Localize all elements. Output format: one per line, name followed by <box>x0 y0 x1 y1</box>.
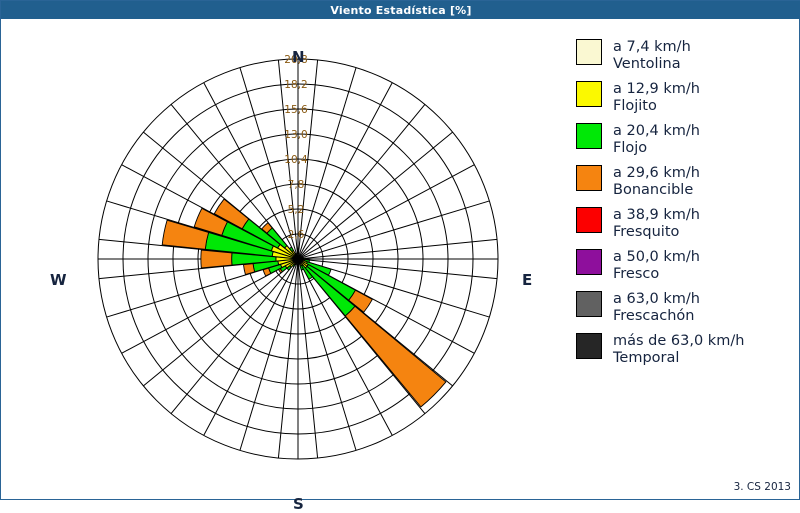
radial-tick-label: 13,0 <box>284 129 307 141</box>
legend-item-text: a 20,4 km/hFlojo <box>613 123 700 157</box>
legend-item-speed: a 7,4 km/h <box>613 39 691 56</box>
legend-item-speed: más de 63,0 km/h <box>613 333 744 350</box>
legend-color-swatch <box>576 291 602 317</box>
legend-item-name: Flojo <box>613 140 700 157</box>
legend-item[interactable]: a 50,0 km/hFresco <box>576 249 791 283</box>
legend-item-name: Ventolina <box>613 56 691 73</box>
legend-color-swatch <box>576 207 602 233</box>
compass-label-north: N <box>292 48 305 66</box>
legend-item-speed: a 50,0 km/h <box>613 249 700 266</box>
legend-item-name: Fresquito <box>613 224 700 241</box>
legend-item-speed: a 38,9 km/h <box>613 207 700 224</box>
legend-item-name: Flojito <box>613 98 700 115</box>
radial-tick-label: 5,2 <box>288 204 305 216</box>
legend-color-swatch <box>576 249 602 275</box>
legend-item-speed: a 12,9 km/h <box>613 81 700 98</box>
radial-axis-labels: 2,65,27,810,413,015,618,220,8 <box>284 54 308 241</box>
legend-item-speed: a 63,0 km/h <box>613 291 700 308</box>
legend-color-swatch <box>576 333 602 359</box>
legend-item[interactable]: a 20,4 km/hFlojo <box>576 123 791 157</box>
window-title: Viento Estadística [%] <box>330 4 471 17</box>
legend-color-swatch <box>576 123 602 149</box>
legend-item-text: a 50,0 km/hFresco <box>613 249 700 283</box>
legend-item-speed: a 20,4 km/h <box>613 123 700 140</box>
legend-item-text: más de 63,0 km/hTemporal <box>613 333 744 367</box>
legend-item-text: a 12,9 km/hFlojito <box>613 81 700 115</box>
legend-color-swatch <box>576 39 602 65</box>
legend-item[interactable]: a 29,6 km/hBonancible <box>576 165 791 199</box>
legend-item[interactable]: a 63,0 km/hFrescachón <box>576 291 791 325</box>
legend-item[interactable]: a 7,4 km/hVentolina <box>576 39 791 73</box>
legend-item-name: Temporal <box>613 350 744 367</box>
legend-item-speed: a 29,6 km/h <box>613 165 700 182</box>
legend-item-text: a 38,9 km/hFresquito <box>613 207 700 241</box>
legend-item-name: Fresco <box>613 266 700 283</box>
legend-item-text: a 7,4 km/hVentolina <box>613 39 691 73</box>
legend-item[interactable]: más de 63,0 km/hTemporal <box>576 333 791 367</box>
radial-tick-label: 18,2 <box>284 79 307 91</box>
legend-item[interactable]: a 38,9 km/hFresquito <box>576 207 791 241</box>
compass-label-south: S <box>293 495 304 513</box>
radial-tick-label: 2,6 <box>288 229 305 241</box>
footer-credit: 3. CS 2013 <box>734 481 791 493</box>
legend: a 7,4 km/hVentolinaa 12,9 km/hFlojitoa 2… <box>576 39 791 375</box>
radial-tick-label: 10,4 <box>284 154 308 166</box>
legend-item-text: a 29,6 km/hBonancible <box>613 165 700 199</box>
compass-label-east: E <box>522 271 532 289</box>
legend-item-name: Bonancible <box>613 182 700 199</box>
window-title-bar: Viento Estadística [%] <box>1 1 800 19</box>
legend-color-swatch <box>576 81 602 107</box>
wind-rose-window: Viento Estadística [%] 2,65,27,810,413,0… <box>0 0 800 500</box>
legend-item-name: Frescachón <box>613 308 700 325</box>
legend-item-text: a 63,0 km/hFrescachón <box>613 291 700 325</box>
compass-label-west: W <box>50 271 67 289</box>
legend-color-swatch <box>576 165 602 191</box>
wind-rose-svg: 2,65,27,810,413,015,618,220,8 <box>1 20 566 500</box>
legend-item[interactable]: a 12,9 km/hFlojito <box>576 81 791 115</box>
wind-rose-plot: 2,65,27,810,413,015,618,220,8 N S W E <box>1 20 566 500</box>
radial-tick-label: 7,8 <box>288 179 305 191</box>
radial-tick-label: 15,6 <box>284 104 308 116</box>
